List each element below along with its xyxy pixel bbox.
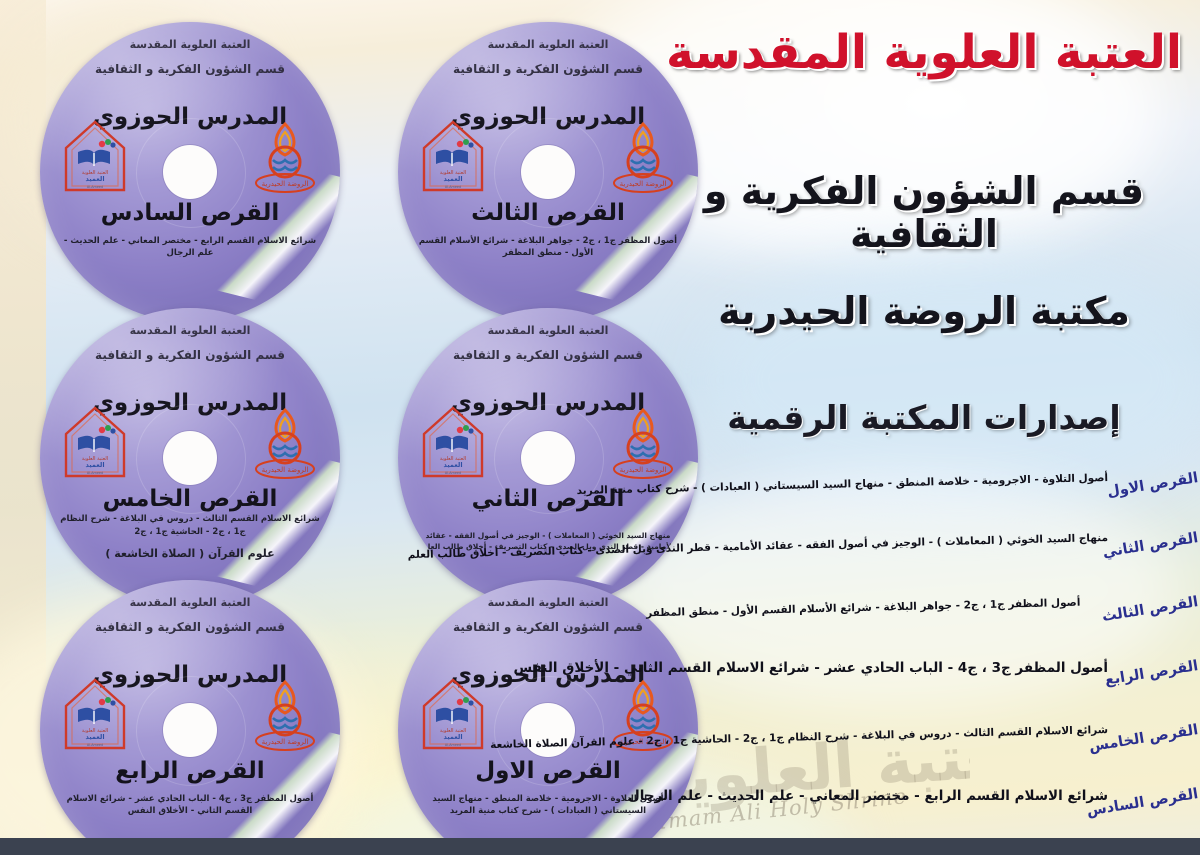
disc-center-hole bbox=[163, 431, 217, 485]
poster-heading-shrine: العتبة العلوية المقدسة bbox=[664, 28, 1184, 79]
svg-text:الروضة الحيدرية: الروضة الحيدرية bbox=[262, 180, 309, 188]
disc-center-hole bbox=[521, 145, 575, 199]
contents-row-disc-two: القرص الثاني منهاج السيد الخوئي ( المعام… bbox=[640, 530, 1200, 588]
disc-contents-line: شرائع الاسلام القسم الثالث - دروس في الب… bbox=[56, 513, 324, 539]
haydariya-library-emblem: الروضة الحيدرية bbox=[248, 120, 322, 204]
contents-text-disc-four: أصول المظفر ج3 ، ج4 - الباب الحادي عشر -… bbox=[646, 660, 1108, 676]
disc-contents-line: أصول المظفر ج3 ، ج4 - الباب الحادي عشر -… bbox=[56, 793, 324, 819]
contents-text-disc-five: شرائع الاسلام القسم الثالث - دروس في الب… bbox=[646, 724, 1108, 747]
disc-contents-line-two: علوم القرآن ( الصلاة الخاشعة ) bbox=[56, 546, 324, 563]
disc-six[interactable]: العتبة العلوية المقدسة قسم الشؤون الفكري… bbox=[40, 22, 340, 322]
svg-text:العميد: العميد bbox=[443, 733, 462, 741]
disc-department-label: قسم الشؤون الفكرية و الثقافية bbox=[40, 620, 340, 634]
disc-contents-list: القرص الاول أصول التلاوة - الاجرومية - خ… bbox=[640, 470, 1200, 840]
disc-center-hole bbox=[163, 703, 217, 757]
disc-contents-line: شرائع الاسلام القسم الرابع - مختصر المعا… bbox=[56, 235, 324, 261]
svg-text:الروضة الحيدرية: الروضة الحيدرية bbox=[262, 466, 309, 474]
contents-text-disc-six: شرائع الاسلام القسم الرابع - مختصر المعا… bbox=[646, 788, 1108, 804]
svg-text:العميد: العميد bbox=[85, 461, 104, 469]
contents-label-disc-two: القرص الثاني bbox=[1112, 530, 1199, 559]
right-text-panel: العتبة العلوية المقدسة قسم الشؤون الفكري… bbox=[640, 0, 1200, 855]
disc-four[interactable]: العتبة العلوية المقدسة قسم الشؤون الفكري… bbox=[40, 580, 340, 855]
contents-text-disc-two: منهاج السيد الخوئي ( المعاملات ) - الوجي… bbox=[646, 532, 1108, 555]
al-ameed-arch-logo: العتبة العلوية العميد Al-Ameed bbox=[420, 676, 486, 752]
poster-canvas: العتبة العلوية Imam Ali Holy Shrine العت… bbox=[0, 0, 1200, 855]
contents-label-disc-four: القرص الرابع bbox=[1112, 658, 1199, 687]
bottom-bar bbox=[0, 838, 1200, 855]
contents-row-disc-five: القرص الخامس شرائع الاسلام القسم الثالث … bbox=[640, 722, 1200, 780]
svg-text:الروضة الحيدرية: الروضة الحيدرية bbox=[262, 738, 309, 746]
svg-text:العميد: العميد bbox=[443, 175, 462, 183]
disc-center-hole bbox=[163, 145, 217, 199]
contents-label-disc-five: القرص الخامس bbox=[1112, 722, 1199, 751]
al-ameed-arch-logo: العتبة العلوية العميد Al-Ameed bbox=[62, 404, 128, 480]
svg-text:Al-Ameed: Al-Ameed bbox=[445, 471, 461, 475]
svg-text:Al-Ameed: Al-Ameed bbox=[87, 185, 103, 189]
disc-number-label: القرص الرابع bbox=[40, 758, 340, 784]
svg-text:Al-Ameed: Al-Ameed bbox=[87, 471, 103, 475]
contents-text-disc-three: أصول المظفر ج1 ، ج2 - جواهر البلاغة - شر… bbox=[646, 596, 1108, 619]
disc-org-label: العتبة العلوية المقدسة bbox=[40, 38, 340, 51]
al-ameed-arch-logo: العتبة العلوية العميد Al-Ameed bbox=[420, 118, 486, 194]
disc-department-label: قسم الشؤون الفكرية و الثقافية bbox=[40, 348, 340, 362]
svg-text:Al-Ameed: Al-Ameed bbox=[445, 185, 461, 189]
haydariya-library-emblem: الروضة الحيدرية bbox=[248, 406, 322, 490]
poster-heading-digital-releases: إصدارات المكتبة الرقمية bbox=[664, 400, 1184, 437]
contents-row-disc-one: القرص الاول أصول التلاوة - الاجرومية - خ… bbox=[640, 470, 1200, 528]
disc-org-label: العتبة العلوية المقدسة bbox=[40, 596, 340, 609]
contents-label-disc-one: القرص الاول bbox=[1112, 470, 1199, 499]
disc-number-label: القرص الخامس bbox=[40, 486, 340, 512]
poster-heading-department: قسم الشؤون الفكرية و الثقافية bbox=[664, 170, 1184, 255]
contents-row-disc-three: القرص الثالث أصول المظفر ج1 ، ج2 - جواهر… bbox=[640, 594, 1200, 652]
svg-text:العميد: العميد bbox=[85, 733, 104, 741]
disc-contents-text: شرائع الاسلام القسم الثالث - دروس في الب… bbox=[56, 513, 324, 562]
svg-text:Al-Ameed: Al-Ameed bbox=[445, 743, 461, 747]
disc-number-label: القرص السادس bbox=[40, 200, 340, 226]
al-ameed-arch-logo: العتبة العلوية العميد Al-Ameed bbox=[62, 118, 128, 194]
disc-org-label: العتبة العلوية المقدسة bbox=[40, 324, 340, 337]
contents-label-disc-six: القرص السادس bbox=[1112, 786, 1199, 815]
al-ameed-arch-logo: العتبة العلوية العميد Al-Ameed bbox=[62, 676, 128, 752]
contents-label-disc-three: القرص الثالث bbox=[1112, 594, 1199, 623]
disc-contents-text: شرائع الاسلام القسم الرابع - مختصر المعا… bbox=[56, 235, 324, 261]
haydariya-library-emblem: الروضة الحيدرية bbox=[248, 678, 322, 762]
disc-department-label: قسم الشؤون الفكرية و الثقافية bbox=[40, 62, 340, 76]
svg-text:Al-Ameed: Al-Ameed bbox=[87, 743, 103, 747]
disc-five[interactable]: العتبة العلوية المقدسة قسم الشؤون الفكري… bbox=[40, 308, 340, 608]
svg-text:العميد: العميد bbox=[85, 175, 104, 183]
contents-text-disc-one: أصول التلاوة - الاجرومية - خلاصة المنطق … bbox=[646, 472, 1108, 495]
al-ameed-arch-logo: العتبة العلوية العميد Al-Ameed bbox=[420, 404, 486, 480]
poster-heading-library: مكتبة الروضة الحيدرية bbox=[664, 290, 1184, 333]
disc-center-hole bbox=[521, 431, 575, 485]
contents-row-disc-six: القرص السادس شرائع الاسلام القسم الرابع … bbox=[640, 786, 1200, 844]
disc-contents-text: أصول المظفر ج3 ، ج4 - الباب الحادي عشر -… bbox=[56, 793, 324, 819]
contents-row-disc-four: القرص الرابع أصول المظفر ج3 ، ج4 - الباب… bbox=[640, 658, 1200, 716]
svg-text:العميد: العميد bbox=[443, 461, 462, 469]
